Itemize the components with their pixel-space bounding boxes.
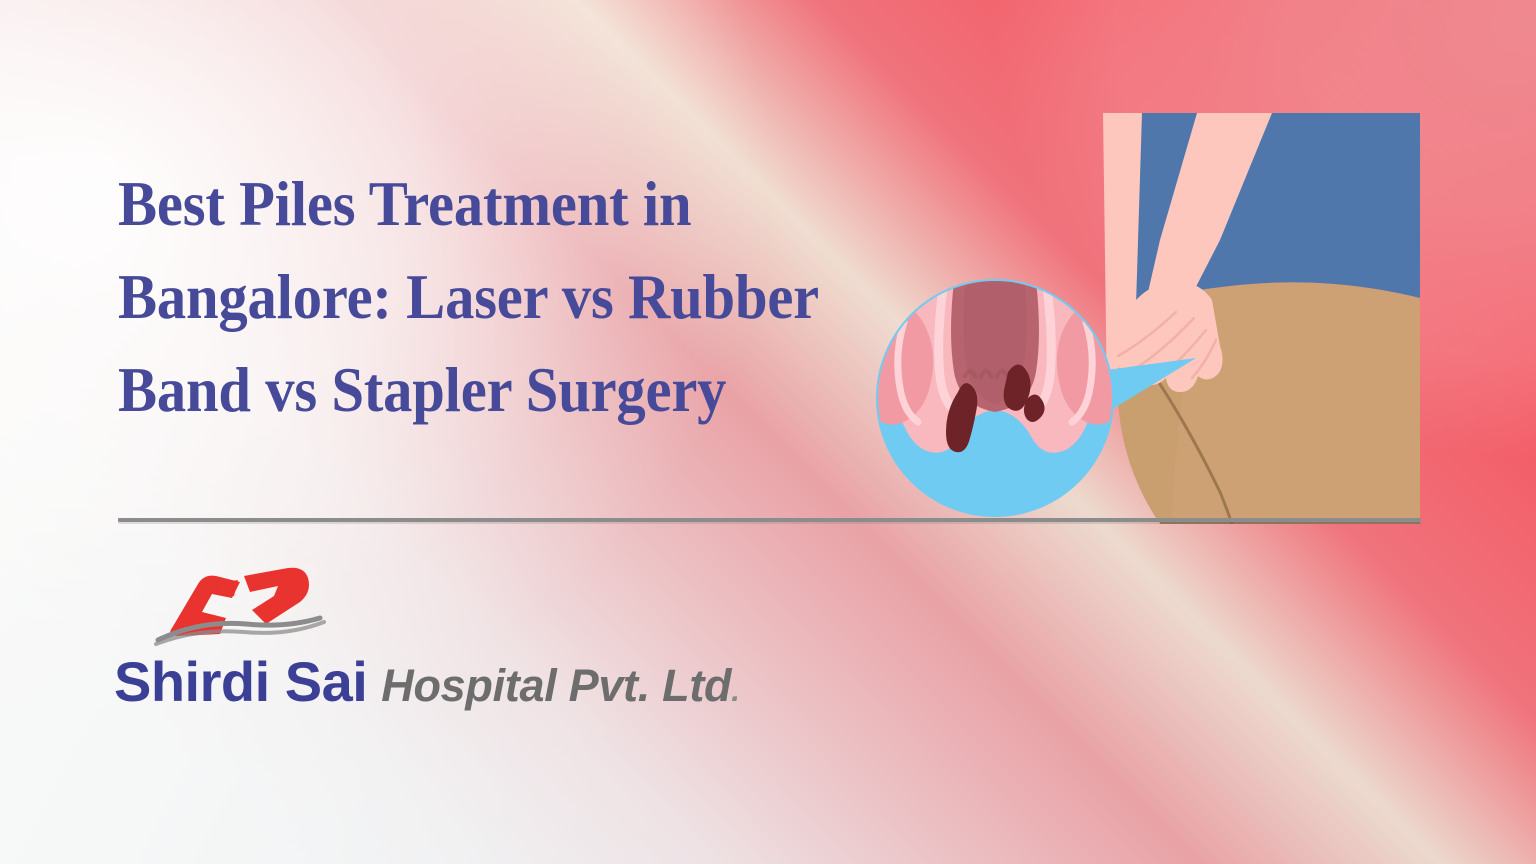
illustration-group [860,100,1436,524]
patient-figure [1103,113,1420,524]
logo-suffix-text: Hospital Pvt. Ltd [381,660,731,711]
brand-logo[interactable]: Shirdi SaiHospital Pvt. Ltd. [114,562,734,722]
logo-wordmark: Shirdi SaiHospital Pvt. Ltd. [114,654,740,710]
hero-banner: Best Piles Treatment in Bangalore: Laser… [0,0,1536,864]
anatomy-illustration [878,281,1112,515]
logo-suffix-period: . [731,673,740,708]
logo-brand-name: Shirdi Sai [114,650,367,713]
logo-cross-icon [154,562,364,652]
divider-line-shadow [118,522,1421,524]
cross-right-half [244,568,309,624]
page-title: Best Piles Treatment in Bangalore: Laser… [118,158,853,437]
